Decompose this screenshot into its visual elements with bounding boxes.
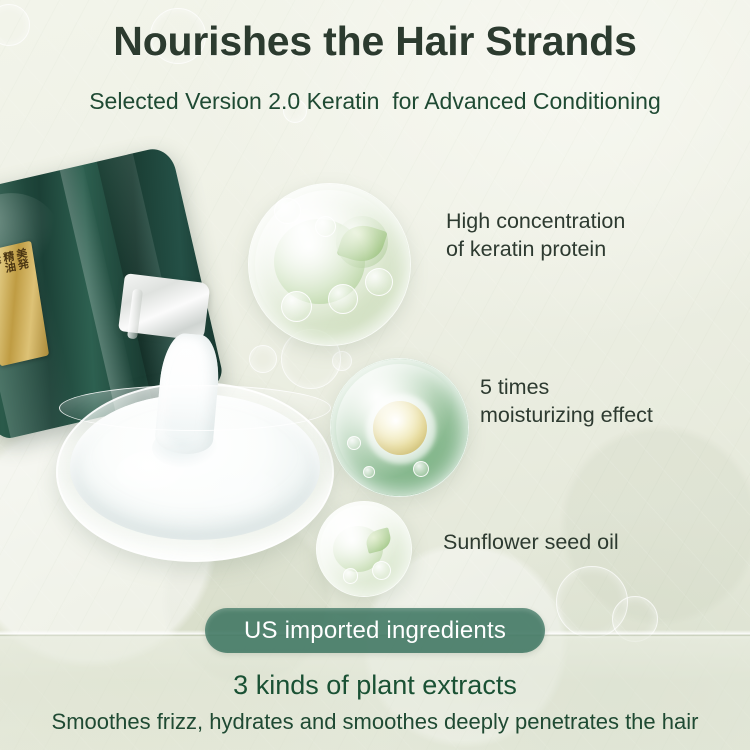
ghost-bubble-icon [556, 566, 628, 638]
callout-line-2: moisturizing effect [480, 402, 653, 430]
ingredient-bubble-sunflower [316, 501, 412, 597]
callout-line-1: High concentration [446, 208, 625, 236]
footer-headline: 3 kinds of plant extracts [0, 670, 750, 701]
ghost-bubble-icon [249, 345, 277, 373]
page-subtitle: Selected Version 2.0 Keratin for Advance… [0, 88, 750, 115]
callout-moisturizing: 5 times moisturizing effect [480, 374, 653, 429]
callout-sunflower: Sunflower seed oil [443, 529, 619, 557]
petri-dish [56, 382, 334, 562]
callout-line-1: 5 times [480, 374, 653, 402]
callout-line-2: of keratin protein [446, 236, 625, 264]
callout-high-keratin: High concentration of keratin protein [446, 208, 625, 263]
ingredient-bubble-moisture [330, 358, 469, 497]
status-badge: US imported ingredients [205, 608, 545, 653]
bubble-highlight [320, 505, 408, 593]
page-title: Nourishes the Hair Strands [0, 18, 750, 65]
cream-swirl [116, 450, 196, 496]
dish-rim [59, 385, 331, 431]
bubble-highlight [255, 190, 405, 340]
bubble-highlight [336, 364, 464, 492]
ingredient-bubble-keratin [248, 183, 411, 346]
callout-line-1: Sunflower seed oil [443, 529, 619, 557]
ghost-bubble-icon [612, 596, 658, 642]
product-marketing-poster: Nourishes the Hair Strands Selected Vers… [0, 0, 750, 750]
footer-description: Smoothes frizz, hydrates and smoothes de… [0, 709, 750, 735]
cream-swirl [188, 468, 280, 516]
ghost-bubble-icon [332, 351, 352, 371]
status-badge-label: US imported ingredients [244, 617, 506, 645]
